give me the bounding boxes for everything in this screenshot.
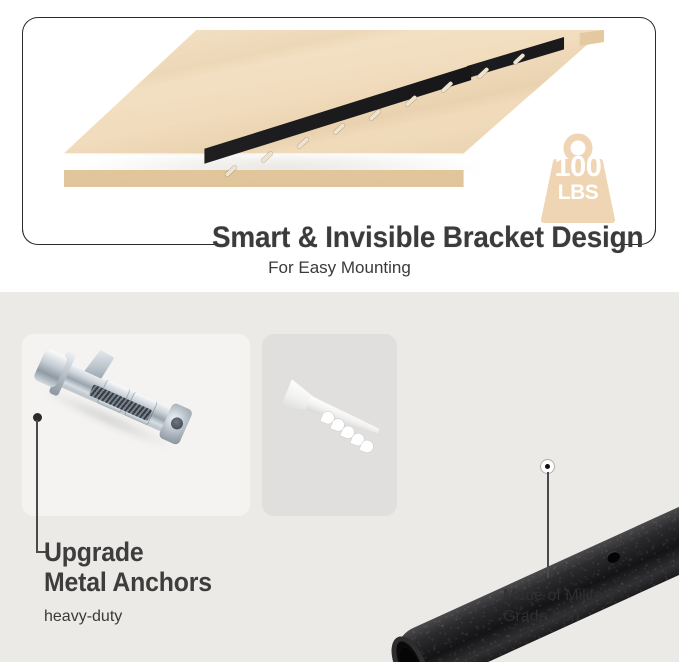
pipe-callout-line1: Made of Military: [503, 585, 616, 606]
weight-unit: LBS: [536, 182, 620, 204]
pipe-body: [385, 504, 679, 662]
page-subtitle: For Easy Mounting: [0, 258, 679, 278]
pipe-callout-line: [547, 472, 549, 578]
pipe-callout-text: Made of Military Grade Iron: [503, 585, 616, 627]
weight-value: 100: [536, 152, 620, 182]
pipe-callout-line2: Grade Iron: [503, 606, 616, 627]
frame-bottom-rule-left: [38, 244, 218, 245]
metal-anchor-callout-line1: Upgrade: [44, 538, 143, 567]
metal-anchor-callout-dot: [33, 413, 42, 422]
metal-anchor-callout-line-vertical: [36, 420, 38, 553]
metal-anchor-callout-line2: Metal Anchors: [44, 568, 212, 597]
page-title: Smart & Invisible Bracket Design: [212, 222, 603, 254]
product-infographic: 100 LBS Smart & Invisible Bracket Design…: [0, 0, 679, 662]
floating-shelf: [64, 30, 604, 208]
metal-anchor-callout-note: heavy-duty: [44, 608, 122, 626]
pipe-texture: [385, 504, 679, 662]
weight-capacity-badge: 100 LBS: [536, 132, 620, 224]
weight-badge-text: 100 LBS: [536, 152, 620, 204]
top-panel: 100 LBS Smart & Invisible Bracket Design…: [0, 0, 679, 292]
